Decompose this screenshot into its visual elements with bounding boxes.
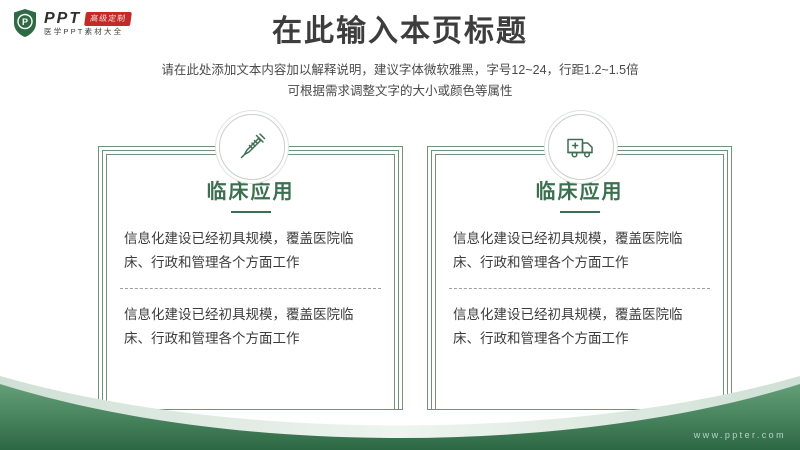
- card-paragraph-left-1: 信息化建设已经初具规模，覆盖医院临床、行政和管理各个方面工作: [124, 227, 377, 274]
- syringe-icon-badge: [219, 114, 285, 180]
- content-card-left[interactable]: 临床应用 信息化建设已经初具规模，覆盖医院临床、行政和管理各个方面工作 信息化建…: [98, 146, 403, 394]
- page-title: 在此输入本页标题: [0, 14, 800, 50]
- footer-curve-svg: [0, 370, 800, 450]
- card-row: 临床应用 信息化建设已经初具规模，覆盖医院临床、行政和管理各个方面工作 信息化建…: [0, 146, 800, 396]
- watermark: www.ppter.com: [694, 430, 786, 440]
- ambulance-icon: [564, 130, 598, 164]
- card-paragraph-right-2: 信息化建设已经初具规模，覆盖医院临床、行政和管理各个方面工作: [453, 303, 706, 350]
- card-heading-right: 临床应用: [443, 180, 716, 204]
- ambulance-icon-badge: [548, 114, 614, 180]
- footer-curve-dark: [0, 384, 800, 450]
- page-subtitle: 请在此处添加文本内容加以解释说明，建议字体微软雅黑，字号12~24，行距1.2~…: [0, 60, 800, 103]
- card-heading-left: 临床应用: [114, 180, 387, 204]
- subtitle-line-2: 可根据需求调整文字的大小或颜色等属性: [0, 81, 800, 102]
- subtitle-line-1: 请在此处添加文本内容加以解释说明，建议字体微软雅黑，字号12~24，行距1.2~…: [0, 60, 800, 81]
- slide-canvas: P PPT 高级定制 医学PPT素材大全 在此输入本页标题 请在此处添加文本内容…: [0, 0, 800, 450]
- card-heading-rule-right: [560, 211, 600, 213]
- syringe-icon: [235, 130, 269, 164]
- card-body-right: 临床应用 信息化建设已经初具规模，覆盖医院临床、行政和管理各个方面工作 信息化建…: [443, 164, 716, 394]
- card-divider-left: [120, 288, 381, 289]
- card-paragraph-right-1: 信息化建设已经初具规模，覆盖医院临床、行政和管理各个方面工作: [453, 227, 706, 274]
- card-heading-rule-left: [231, 211, 271, 213]
- footer-decoration: [0, 370, 800, 450]
- content-card-right[interactable]: 临床应用 信息化建设已经初具规模，覆盖医院临床、行政和管理各个方面工作 信息化建…: [427, 146, 732, 394]
- card-divider-right: [449, 288, 710, 289]
- card-paragraph-left-2: 信息化建设已经初具规模，覆盖医院临床、行政和管理各个方面工作: [124, 303, 377, 350]
- card-body-left: 临床应用 信息化建设已经初具规模，覆盖医院临床、行政和管理各个方面工作 信息化建…: [114, 164, 387, 394]
